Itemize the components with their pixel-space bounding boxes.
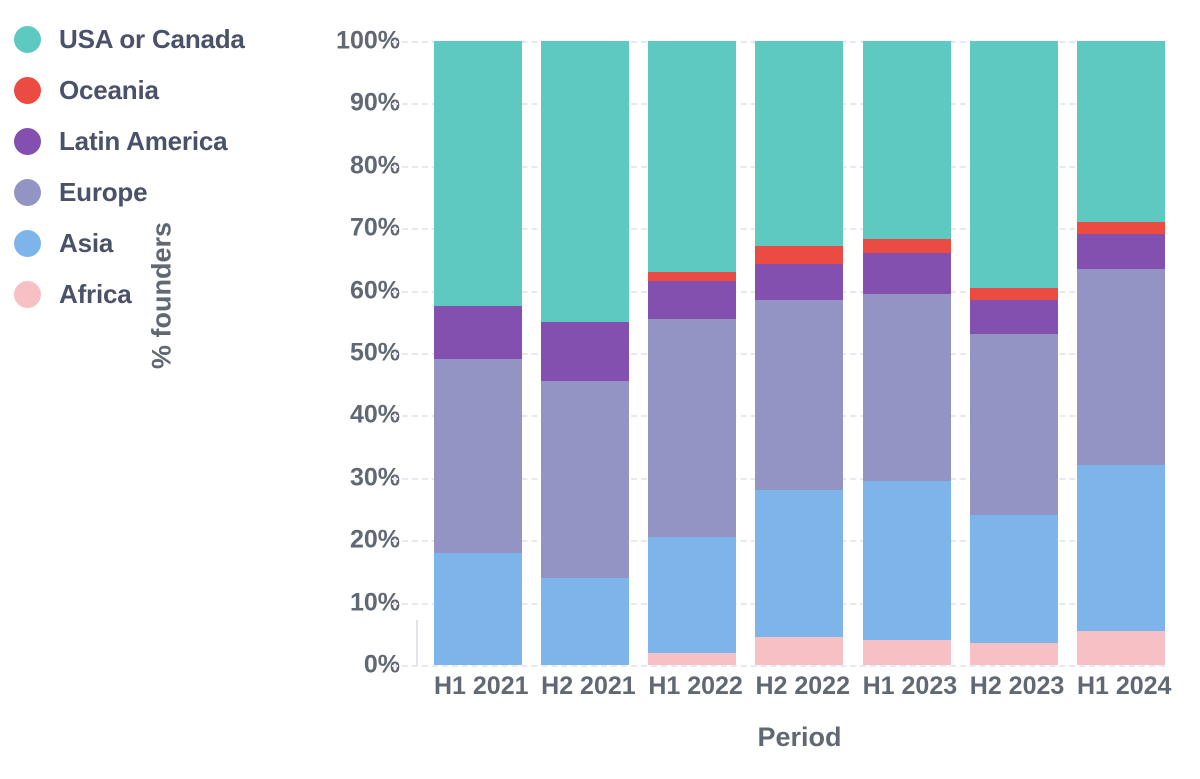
bar-segment[interactable] bbox=[434, 553, 522, 665]
legend-dot-icon bbox=[14, 26, 41, 53]
bar-segment[interactable] bbox=[541, 381, 629, 578]
bar-segment[interactable] bbox=[755, 637, 843, 665]
y-axis-tick-label: 0% bbox=[364, 651, 400, 680]
bar-segment[interactable] bbox=[755, 246, 843, 264]
bar-segment[interactable] bbox=[1077, 234, 1165, 268]
bar-segment[interactable] bbox=[863, 239, 951, 253]
bar-segment[interactable] bbox=[863, 41, 951, 239]
bar-segment[interactable] bbox=[434, 306, 522, 359]
bar-segment[interactable] bbox=[648, 41, 736, 272]
x-axis-tick-label: H1 2021 bbox=[434, 672, 522, 701]
bar-segment[interactable] bbox=[863, 481, 951, 640]
y-axis-tick-label: 90% bbox=[350, 89, 400, 118]
bar-segment[interactable] bbox=[648, 281, 736, 318]
legend-item-label: Oceania bbox=[59, 75, 159, 106]
legend-dot-icon bbox=[14, 179, 41, 206]
bar-segment[interactable] bbox=[863, 253, 951, 294]
y-axis-tick-label: 20% bbox=[350, 526, 400, 555]
bar-segment[interactable] bbox=[648, 653, 736, 665]
x-axis-tick-label: H1 2022 bbox=[648, 672, 736, 701]
bar-segment[interactable] bbox=[755, 41, 843, 246]
legend-dot-icon bbox=[14, 281, 41, 308]
bar-segment[interactable] bbox=[755, 300, 843, 490]
bar-segment[interactable] bbox=[434, 41, 522, 306]
bar-column[interactable] bbox=[1077, 41, 1165, 665]
bar-segment[interactable] bbox=[970, 643, 1058, 665]
y-axis-tick-label: 60% bbox=[350, 276, 400, 305]
y-axis-tick-label: 100% bbox=[336, 27, 400, 56]
bar-segment[interactable] bbox=[970, 41, 1058, 287]
bar-segment[interactable] bbox=[970, 288, 1058, 300]
plot-area bbox=[434, 41, 1165, 665]
bar-column[interactable] bbox=[863, 41, 951, 665]
bar-column[interactable] bbox=[970, 41, 1058, 665]
bar-segment[interactable] bbox=[648, 319, 736, 537]
bar-segment[interactable] bbox=[863, 294, 951, 481]
y-axis-tick-label: 80% bbox=[350, 151, 400, 180]
legend-item[interactable]: Oceania bbox=[14, 65, 314, 116]
bar-segment[interactable] bbox=[434, 359, 522, 552]
bar-column[interactable] bbox=[541, 41, 629, 665]
bar-segment[interactable] bbox=[755, 490, 843, 637]
y-axis-tick-label: 30% bbox=[350, 463, 400, 492]
bar-segment[interactable] bbox=[1077, 222, 1165, 234]
legend-item-label: Latin America bbox=[59, 126, 227, 157]
stacked-bar-group bbox=[434, 41, 1165, 665]
legend-dot-icon bbox=[14, 230, 41, 257]
bar-segment[interactable] bbox=[648, 537, 736, 652]
x-axis-tick-labels: H1 2021H2 2021H1 2022H2 2022H1 2023H2 20… bbox=[434, 672, 1165, 701]
y-axis-tick-label: 40% bbox=[350, 401, 400, 430]
x-axis-tick-label: H1 2024 bbox=[1077, 672, 1165, 701]
legend-dot-icon bbox=[14, 77, 41, 104]
legend-item-label: Europe bbox=[59, 177, 147, 208]
y-axis-spine bbox=[416, 620, 418, 666]
bar-column[interactable] bbox=[434, 41, 522, 665]
bar-column[interactable] bbox=[648, 41, 736, 665]
y-axis-tick-label: 50% bbox=[350, 339, 400, 368]
x-axis-tick-label: H2 2023 bbox=[970, 672, 1058, 701]
bar-segment[interactable] bbox=[1077, 631, 1165, 665]
bar-segment[interactable] bbox=[541, 322, 629, 381]
bar-segment[interactable] bbox=[541, 41, 629, 322]
legend-item-label: USA or Canada bbox=[59, 24, 245, 55]
gridline bbox=[392, 665, 1165, 667]
x-axis-tick-label: H1 2023 bbox=[863, 672, 951, 701]
y-axis-tick-labels: 0%10%20%30%40%50%60%70%80%90%100% bbox=[300, 41, 400, 665]
bar-segment[interactable] bbox=[1077, 269, 1165, 466]
bar-column[interactable] bbox=[755, 41, 843, 665]
x-axis-tick-label: H2 2022 bbox=[755, 672, 843, 701]
y-axis-tick-label: 70% bbox=[350, 214, 400, 243]
bar-segment[interactable] bbox=[1077, 465, 1165, 630]
bar-segment[interactable] bbox=[1077, 41, 1165, 222]
bar-segment[interactable] bbox=[970, 300, 1058, 334]
bar-segment[interactable] bbox=[863, 640, 951, 665]
legend-dot-icon bbox=[14, 128, 41, 155]
legend-item-label: Africa bbox=[59, 279, 132, 310]
legend-item[interactable]: USA or Canada bbox=[14, 14, 314, 65]
y-axis-tick-label: 10% bbox=[350, 588, 400, 617]
bar-segment[interactable] bbox=[755, 264, 843, 300]
x-axis-tick-label: H2 2021 bbox=[541, 672, 629, 701]
bar-segment[interactable] bbox=[541, 578, 629, 665]
y-axis-title: % founders bbox=[147, 116, 178, 476]
legend-item-label: Asia bbox=[59, 228, 113, 259]
bar-segment[interactable] bbox=[970, 515, 1058, 643]
bar-segment[interactable] bbox=[970, 334, 1058, 515]
x-axis-title: Period bbox=[434, 722, 1165, 753]
bar-segment[interactable] bbox=[648, 272, 736, 281]
